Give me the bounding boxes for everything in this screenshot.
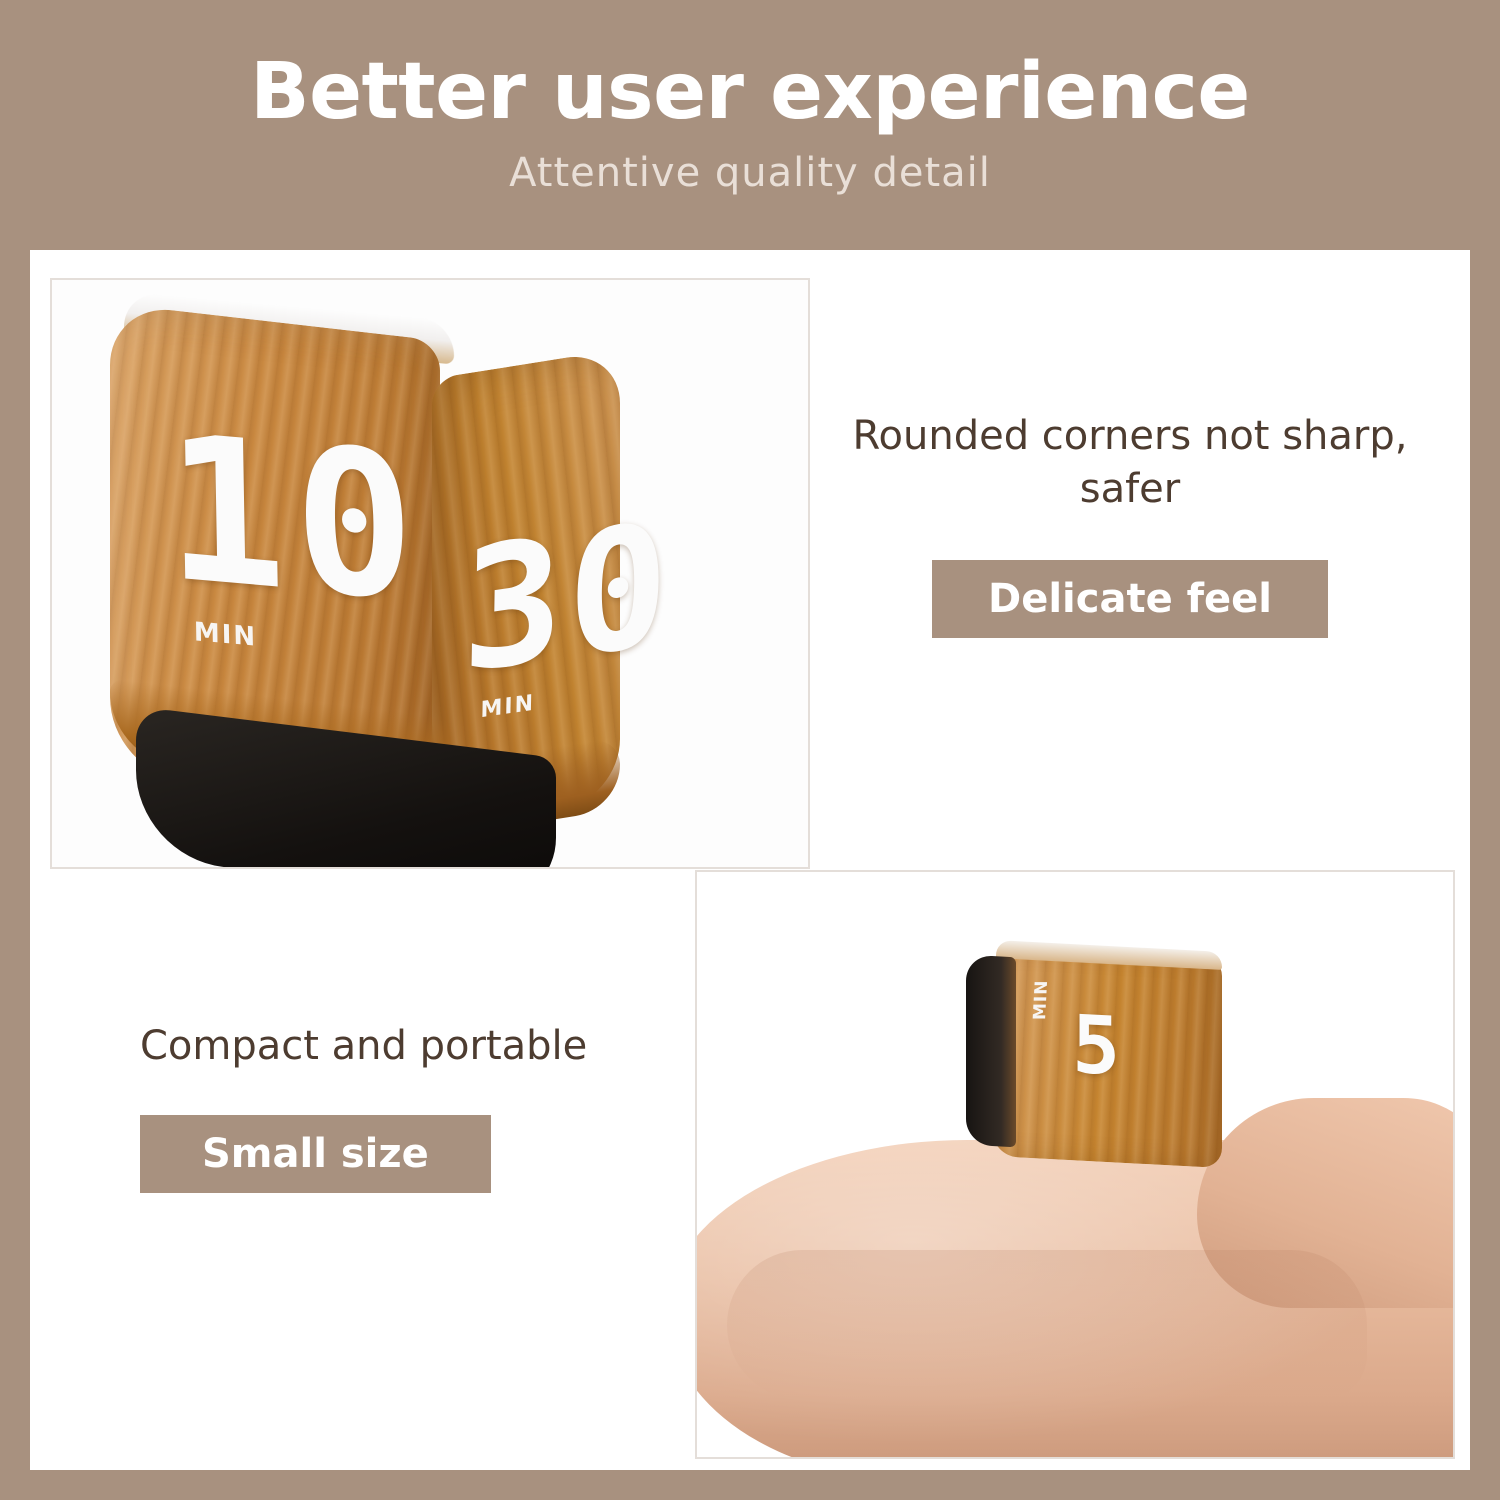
page-title: Better user experience	[250, 52, 1250, 134]
hand-illustration	[695, 1140, 1455, 1459]
palm-shading	[727, 1250, 1367, 1400]
front-display-value: 10	[164, 409, 424, 632]
cube-timer-device: 10 MIN 30 MIN	[80, 300, 640, 860]
feature-right-headline: Rounded corners not sharp, safer	[830, 410, 1430, 516]
feature-left: Compact and portable Small size	[140, 1020, 740, 1193]
product-photo-in-hand: MIN 5	[695, 870, 1455, 1459]
device-side-black-small	[966, 955, 1016, 1148]
feature-right: Rounded corners not sharp, safer Delicat…	[830, 410, 1430, 638]
header: Better user experience Attentive quality…	[0, 0, 1500, 250]
photo-background: 10 MIN 30 MIN	[52, 280, 808, 867]
small-display-value: 5	[1072, 1005, 1120, 1088]
page-subtitle: Attentive quality detail	[509, 150, 991, 196]
front-display-group: 10 MIN	[164, 409, 425, 668]
product-photo-closeup: 10 MIN 30 MIN	[50, 278, 810, 869]
feature-right-badge: Delicate feel	[932, 560, 1328, 638]
side-display-group: 30 MIN	[460, 499, 674, 726]
small-display-group: 5	[1072, 1005, 1120, 1088]
feature-left-headline: Compact and portable	[140, 1020, 740, 1073]
cube-timer-device-small: MIN 5	[962, 950, 1252, 1180]
small-display-unit: MIN	[1030, 980, 1052, 1020]
side-display-value: 30	[461, 499, 674, 697]
page-root: Better user experience Attentive quality…	[0, 0, 1500, 1500]
content-canvas: 10 MIN 30 MIN Rounded corners not sharp,…	[30, 250, 1470, 1470]
feature-left-badge: Small size	[140, 1115, 491, 1193]
